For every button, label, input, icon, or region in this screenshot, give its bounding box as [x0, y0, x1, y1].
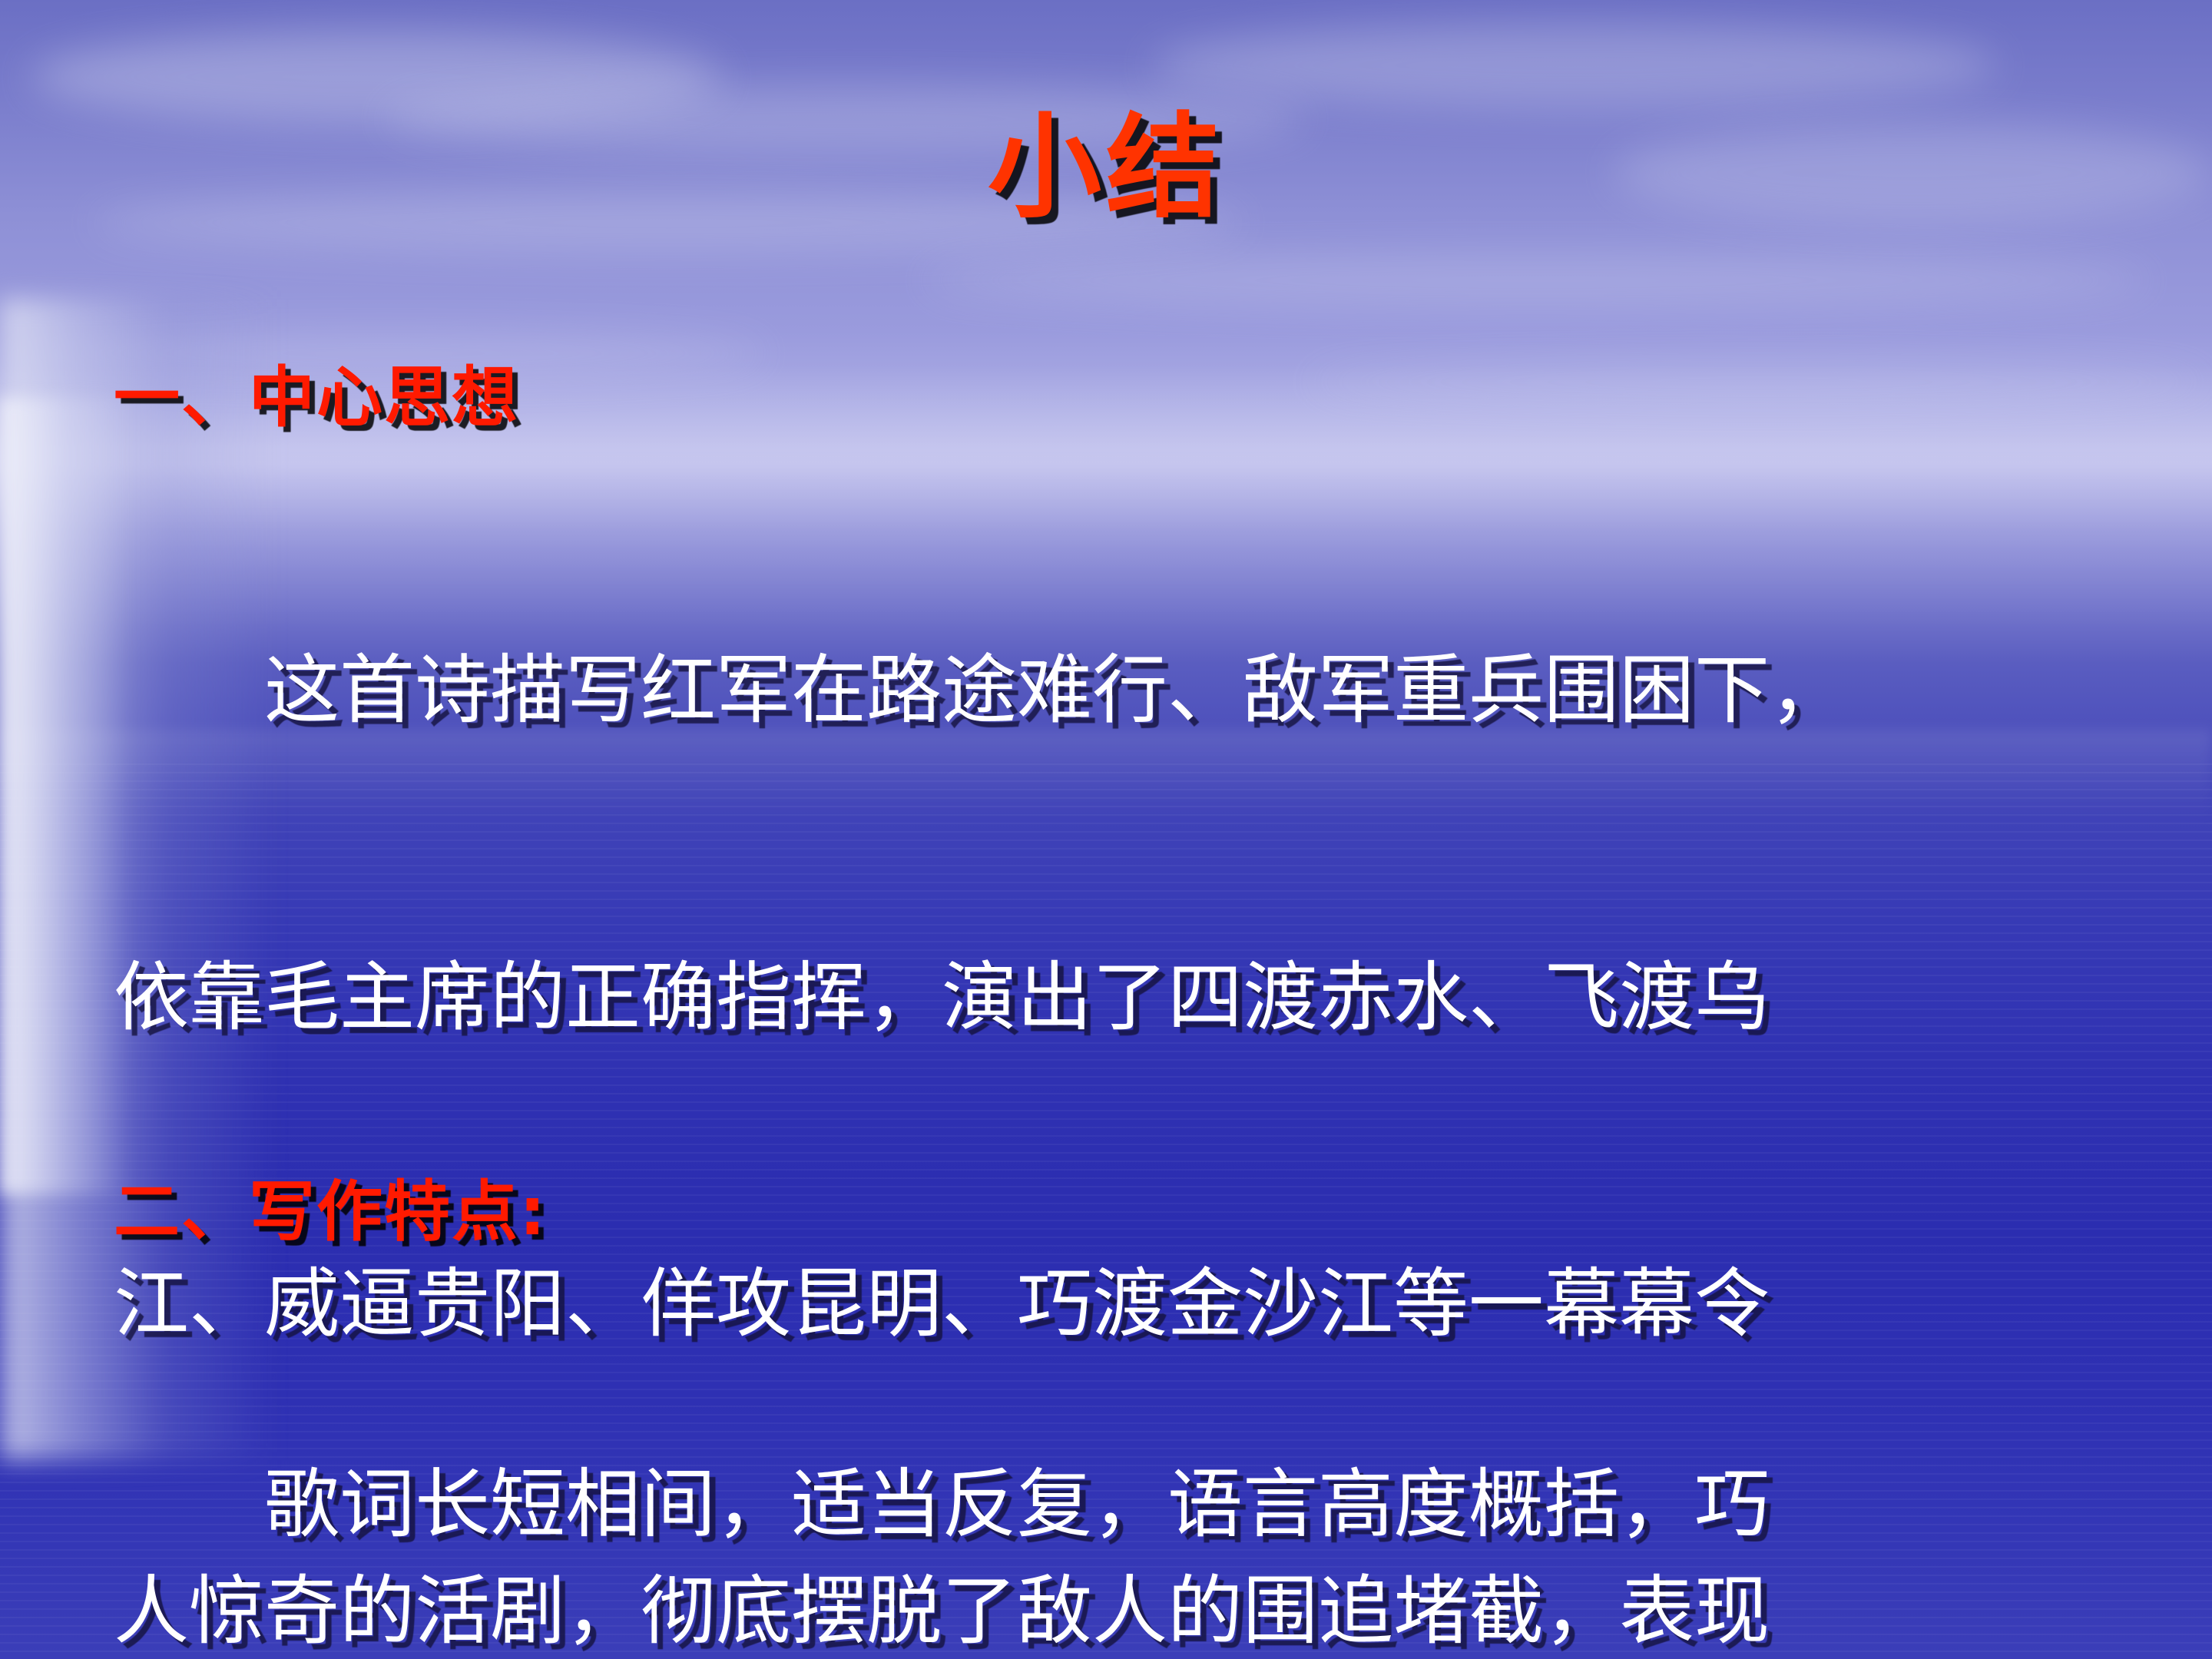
section-heading-1: 一、中心思想 [114, 361, 2120, 435]
section-heading-2: 二、写作特点: [114, 1175, 2120, 1249]
section-paragraph-2: 歌词长短相间，适当反复，语言高度概括，巧 用动词，还多处运用贴切的比喻，增强了表… [114, 1249, 2120, 1659]
slide-content: 小结 一、中心思想 这首诗描写红军在路途难行、敌军重兵围困下， 依靠毛主席的正确… [0, 0, 2212, 1659]
presentation-slide: 小结 一、中心思想 这首诗描写红军在路途难行、敌军重兵围困下， 依靠毛主席的正确… [0, 0, 2212, 1659]
paragraph-line: 这首诗描写红军在路途难行、敌军重兵围困下， [114, 640, 2120, 742]
paragraph-line: 依靠毛主席的正确指挥，演出了四渡赤水、飞渡乌 [114, 947, 2120, 1049]
slide-title: 小结 [0, 108, 2212, 227]
section-writing-features: 二、写作特点: 歌词长短相间，适当反复，语言高度概括，巧 用动词，还多处运用贴切… [114, 1175, 2120, 1659]
paragraph-line: 歌词长短相间，适当反复，语言高度概括，巧 [114, 1454, 2120, 1556]
